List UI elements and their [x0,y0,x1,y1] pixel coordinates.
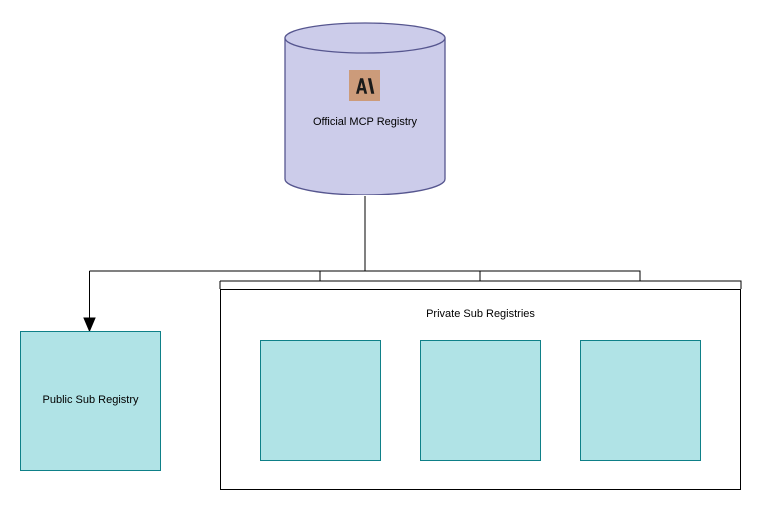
diagram-canvas: Official MCP Registry Public Sub Registr… [0,0,761,511]
edge-upper-bus-line [90,271,641,281]
node-private-registry-3[interactable] [580,340,701,461]
node-private-registry-2[interactable] [420,340,541,461]
edge-lower-bus-line [220,281,741,289]
node-private-registry-1[interactable] [260,340,381,461]
node-public-sub-registry[interactable] [20,331,161,471]
cylinder-shape [284,22,446,195]
arrowhead-public-icon [84,318,95,331]
node-official-mcp-registry[interactable] [284,22,446,195]
anthropic-glyph-icon [355,77,375,95]
anthropic-logo-icon [349,70,380,101]
